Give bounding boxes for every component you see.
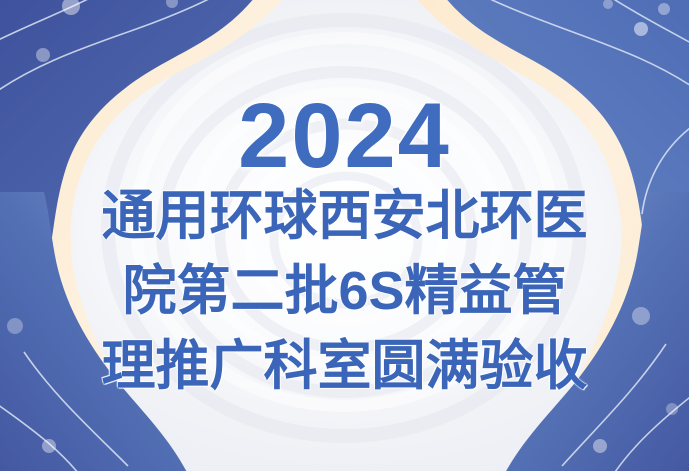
headline-line-2: 院第二批6S精益管 [122, 264, 566, 318]
poster-text-block: 2024 通用环球西安北环医 院第二批6S精益管 理推广科室圆满验收 [0, 0, 689, 471]
headline-line-1: 通用环球西安北环医 [102, 189, 588, 243]
headline-line-3: 理推广科室圆满验收 [102, 339, 588, 393]
poster-canvas: 2024 通用环球西安北环医 院第二批6S精益管 理推广科室圆满验收 [0, 0, 689, 471]
poster-year: 2024 [238, 94, 451, 179]
